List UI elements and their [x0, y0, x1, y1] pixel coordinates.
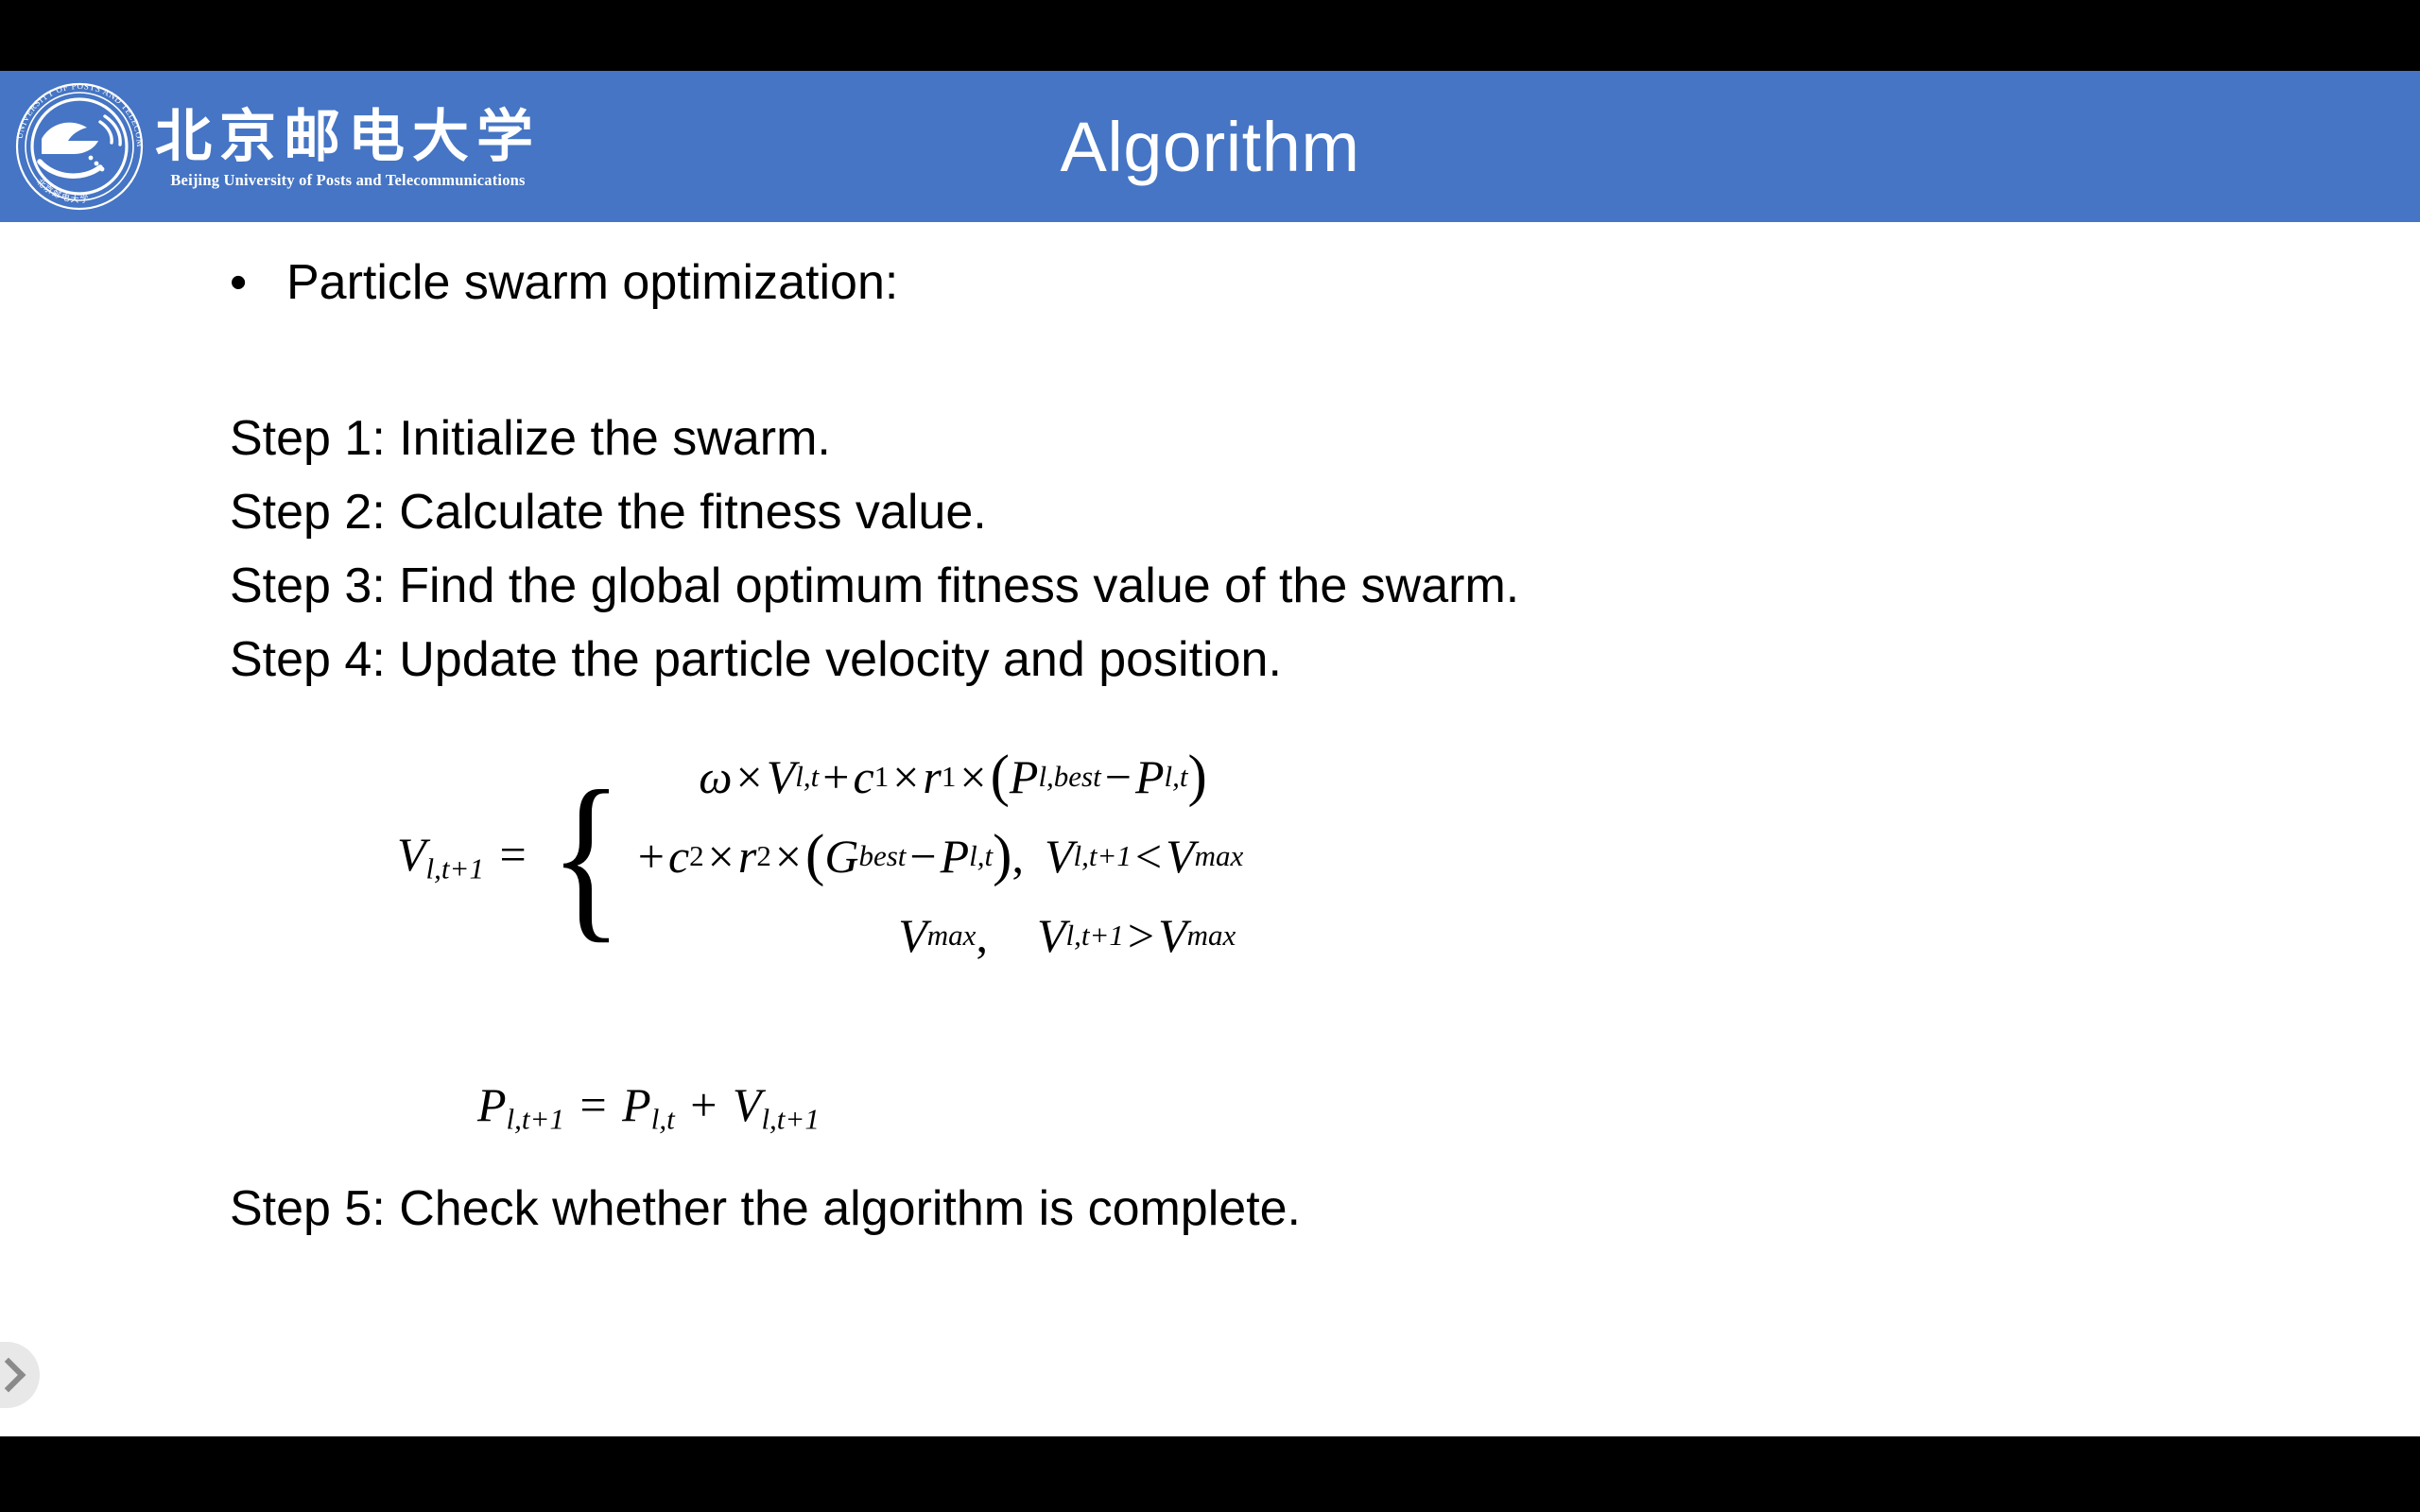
equation-cases: ω×Vl,t+c1×r1×(Pl,best−Pl,t) +c2×r2×(Gbes… [634, 737, 1244, 975]
left-brace: { [549, 784, 622, 929]
slide-canvas: UNIVERSITY OF POSTS AND TELECOMMUNICATIO… [0, 71, 2420, 1436]
equation-position-update: Pl,t+1 = Pl,t + Vl,t+1 [477, 1077, 820, 1137]
letterbox-top-bar [0, 0, 2420, 71]
bullet-label: Particle swarm optimization: [286, 254, 898, 311]
step-line-3: Step 3: Find the global optimum fitness … [230, 549, 2215, 623]
bullet-marker: • [230, 258, 286, 307]
slide-header-band: UNIVERSITY OF POSTS AND TELECOMMUNICATIO… [0, 71, 2420, 222]
step-line-4: Step 4: Update the particle velocity and… [230, 623, 2215, 696]
bullet-item-pso: • Particle swarm optimization: [230, 254, 898, 311]
equation-velocity-update: Vl,t+1 = { ω×Vl,t+c1×r1×(Pl,best−Pl,t) +… [397, 737, 1243, 975]
slide-body: • Particle swarm optimization: Step 1: I… [0, 222, 2420, 1436]
step-line-5: Step 5: Check whether the algorithm is c… [230, 1172, 1301, 1246]
steps-list: Step 1: Initialize the swarm. Step 2: Ca… [230, 402, 2215, 696]
chevron-right-icon [0, 1358, 26, 1393]
equation-lhs: Vl,t+1 = [397, 827, 542, 886]
equation-case-2: +c2×r2×(Gbest−Pl,t),Vl,t+1<Vmax [634, 816, 1244, 896]
step-line-2: Step 2: Calculate the fitness value. [230, 475, 2215, 549]
page-title: Algorithm [0, 71, 2420, 222]
equation-case-1: ω×Vl,t+c1×r1×(Pl,best−Pl,t) [634, 737, 1244, 816]
presentation-viewport: UNIVERSITY OF POSTS AND TELECOMMUNICATIO… [0, 0, 2420, 1512]
letterbox-bottom-bar [0, 1436, 2420, 1512]
step-line-1: Step 1: Initialize the swarm. [230, 402, 2215, 475]
equation-case-3: Vmax,Vl,t+1>Vmax [634, 896, 1244, 975]
